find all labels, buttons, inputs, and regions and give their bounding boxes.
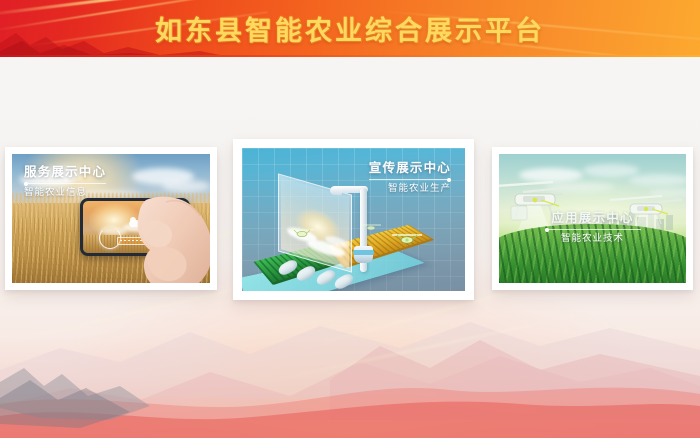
water-bucket [354,246,373,263]
card-image-center: 宣传展示中心 智能农业生产 [242,148,465,291]
card-center-title: 宣传展示中心 [369,160,451,175]
card-left-text-block: 服务展示中心 智能农业信息 [24,164,106,198]
drone-icon [288,226,316,240]
title-divider [545,229,641,230]
banner-bottom-edge [0,55,700,57]
header-banner: 如东县智能农业综合展示平台 [0,0,700,57]
drone-icon [390,230,424,247]
card-right-subtitle: 智能农业技术 [499,233,686,244]
card-right-title: 应用展示中心 [499,210,686,225]
card-center-text-block: 宣传展示中心 智能农业生产 [369,160,451,194]
card-application-display-center[interactable]: 应用展示中心 智能农业技术 [492,147,693,290]
mountain-layer-near [0,352,700,438]
card-service-display-center[interactable]: 服务展示中心 智能农业信息 [5,147,217,290]
lamp-head [330,186,342,195]
card-promotion-display-center[interactable]: 宣传展示中心 智能农业生产 [233,139,474,300]
card-left-title: 服务展示中心 [24,164,106,179]
title-divider [369,179,451,180]
card-left-subtitle: 智能农业信息 [24,187,106,198]
card-image-right: 应用展示中心 智能农业技术 [499,154,686,283]
page-title: 如东县智能农业综合展示平台 [0,0,700,57]
cloud [629,174,686,186]
card-image-left: 服务展示中心 智能农业信息 [12,154,210,283]
cloud [583,164,639,177]
cloud [162,180,210,192]
app-stage: 如东县智能农业综合展示平台 [0,0,700,438]
hand-illustration [126,192,210,283]
card-right-text-block: 应用展示中心 智能农业技术 [499,210,686,244]
title-divider [24,183,106,184]
card-center-subtitle: 智能农业生产 [369,183,451,194]
drone-icon [360,222,382,233]
